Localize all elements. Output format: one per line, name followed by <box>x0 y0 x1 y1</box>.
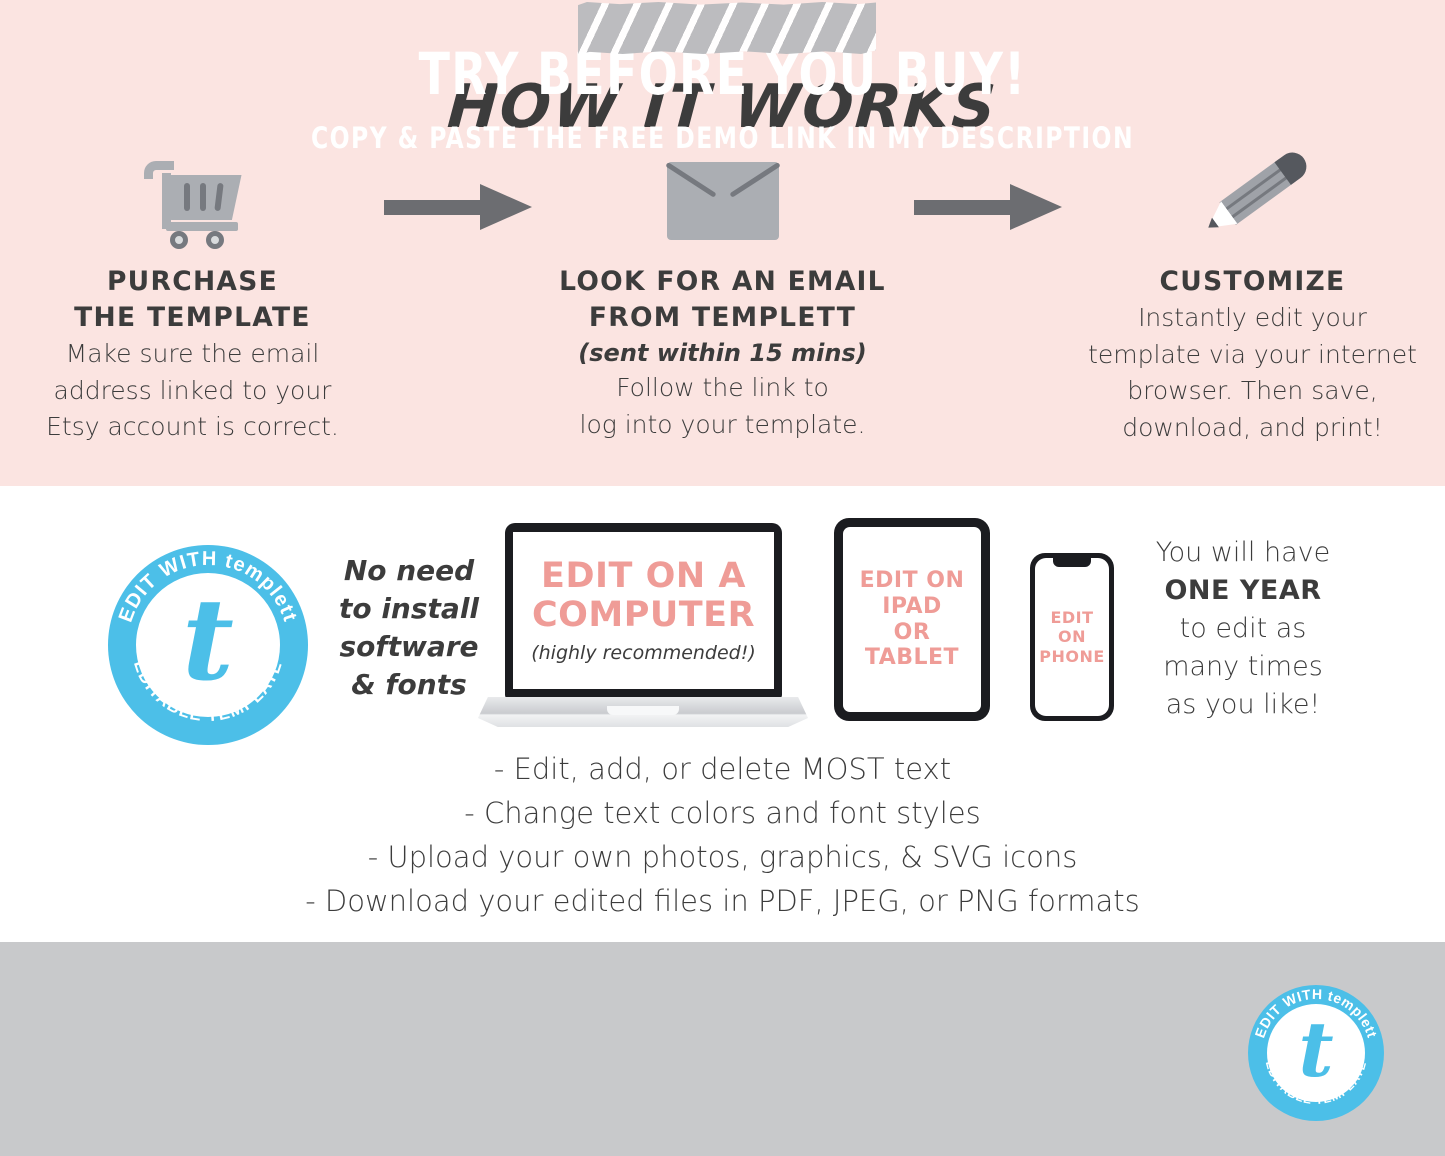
list-item: - Edit, add, or delete MOST text <box>0 747 1445 791</box>
phone-mockup: EDIT ON PHONE <box>1030 553 1114 721</box>
templett-badge-footer: EDIT WITH templett EDITABLE TEMPLATE t <box>1248 985 1384 1121</box>
phone-notch <box>1053 558 1091 567</box>
templett-letter-t: t <box>108 545 308 745</box>
feature-bullet-list: - Edit, add, or delete MOST text - Chang… <box>0 747 1445 923</box>
step-heading: CUSTOMIZE <box>1063 264 1443 300</box>
laptop-mockup: EDIT ON A COMPUTER (highly recommended!) <box>478 523 808 729</box>
tablet-screen-title: EDIT ON IPAD OR TABLET <box>860 568 965 670</box>
phone-screen-title: EDIT ON PHONE <box>1039 608 1105 666</box>
step-body: Make sure the email address linked to yo… <box>3 336 383 446</box>
arrow-right-icon-1 <box>383 146 533 230</box>
shopping-cart-icon <box>3 146 383 256</box>
step-purchase: PURCHASE THE TEMPLATE Make sure the emai… <box>3 146 383 446</box>
step-note: (sent within 15 mins) <box>533 336 913 370</box>
step-customize: CUSTOMIZE Instantly edit your template v… <box>1063 146 1443 446</box>
infographic-canvas: HOW IT WORKS PURCHASE THE TEMPLATE Make … <box>0 0 1445 1156</box>
one-year-line-3: to edit as <box>1180 613 1307 644</box>
list-item: - Download your edited files in PDF, JPE… <box>0 879 1445 923</box>
step-email: LOOK FOR AN EMAIL FROM TEMPLETT (sent wi… <box>533 146 913 443</box>
laptop-screen-title: EDIT ON A COMPUTER <box>532 557 755 634</box>
step-body: Instantly edit your template via your in… <box>1063 300 1443 446</box>
templett-badge: EDIT WITH templett EDITABLE TEMPLATE t <box>108 545 308 745</box>
envelope-icon <box>533 146 913 256</box>
washi-tape-icon <box>578 2 876 54</box>
list-item: - Change text colors and font styles <box>0 791 1445 835</box>
one-year-line-1: You will have <box>1156 537 1331 568</box>
one-year-emphasis: ONE YEAR <box>1164 575 1321 606</box>
step-heading: LOOK FOR AN EMAIL FROM TEMPLETT <box>533 264 913 336</box>
templett-letter-t-footer: t <box>1248 985 1384 1121</box>
no-install-note: No need to install software & fonts <box>324 552 494 704</box>
footer-subtitle: COPY & PASTE THE FREE DEMO LINK IN MY DE… <box>72 121 1373 155</box>
step-body: Follow the link to log into your templat… <box>533 370 913 443</box>
pencil-icon <box>1063 146 1443 256</box>
arrow-right-icon-2 <box>913 146 1063 230</box>
list-item: - Upload your own photos, graphics, & SV… <box>0 835 1445 879</box>
try-before-you-buy-banner <box>0 942 1445 1156</box>
laptop-screen-subtitle: (highly recommended!) <box>531 642 756 664</box>
one-year-line-4: many times <box>1163 651 1323 682</box>
one-year-line-5: as you like! <box>1166 689 1321 720</box>
step-heading: PURCHASE THE TEMPLATE <box>3 264 383 336</box>
one-year-note: You will have ONE YEAR to edit as many t… <box>1128 534 1358 724</box>
laptop-trackpad-notch <box>607 706 679 715</box>
steps-row: PURCHASE THE TEMPLATE Make sure the emai… <box>0 146 1445 446</box>
tablet-mockup: EDIT ON IPAD OR TABLET <box>834 518 990 721</box>
